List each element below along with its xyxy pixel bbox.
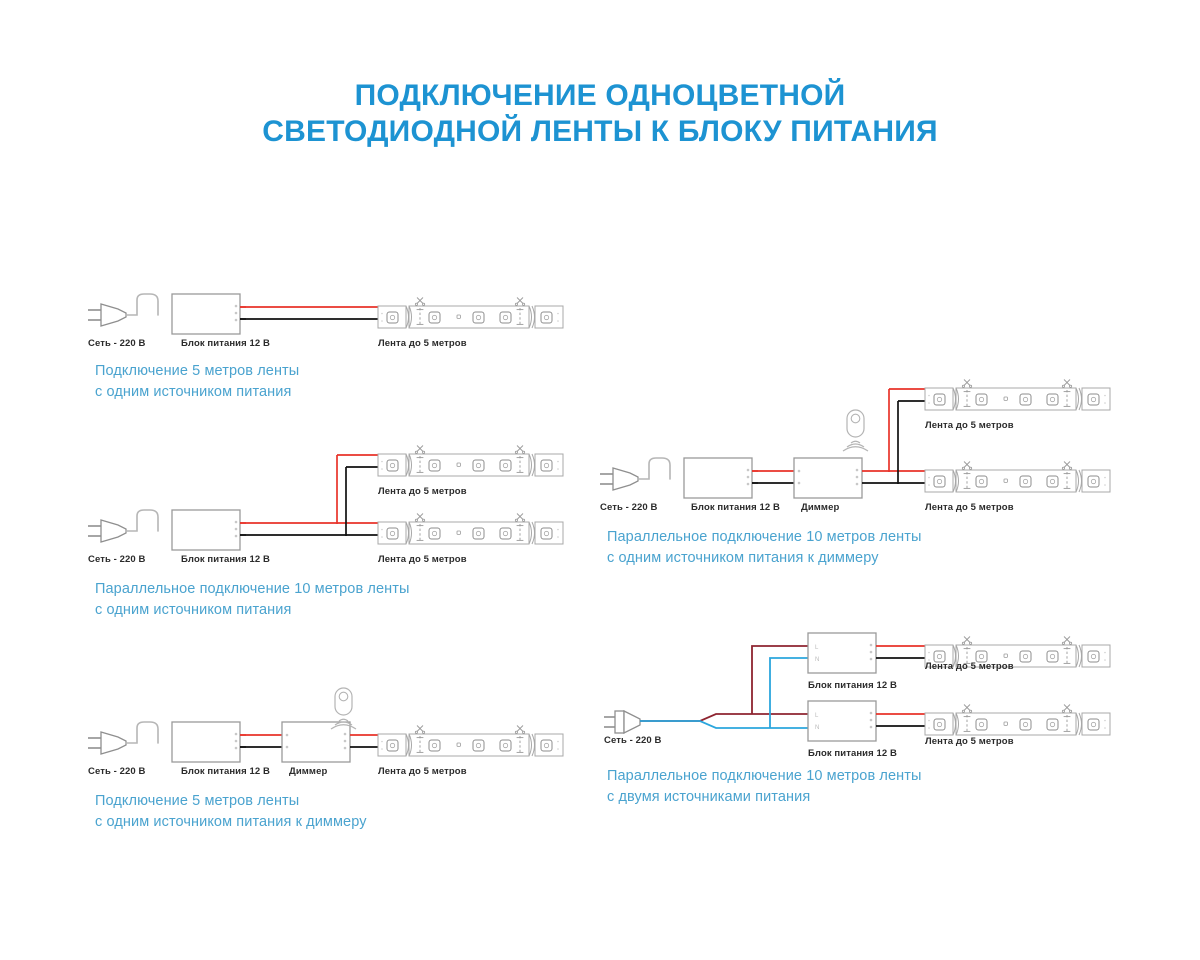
svg-text:N: N [815,725,819,731]
diagram-2-caption: Параллельное подключение 10 метров ленты… [95,579,410,621]
diagram-1-caption-line-2: с одним источником питания [95,382,299,403]
label-dimmer: Диммер [801,502,839,513]
label-mains: Сеть - 220 В [88,554,146,565]
diagram-2-parallel-two-strips [88,446,563,551]
diagram-3-caption-line-2: с одним источником питания к диммеру [95,812,367,833]
label-strip-lower: Лента до 5 метров [378,554,467,565]
led-strip-lower [925,705,1110,736]
label-psu: Блок питания 12 В [181,554,270,565]
diagram-5-caption-line-1: Параллельное подключение 10 метров ленты [607,766,922,787]
led-strip-lower [925,462,1110,493]
label-psu: Блок питания 12 В [181,338,270,349]
diagram-page: ПОДКЛЮЧЕНИЕ ОДНОЦВЕТНОЙ СВЕТОДИОДНОЙ ЛЕН… [0,0,1200,960]
power-supply-box [172,294,240,334]
diagram-4-dimmer-parallel-two-strips [600,380,1110,499]
power-supply-box [172,510,240,550]
diagram-3-caption-line-1: Подключение 5 метров ленты [95,791,367,812]
label-psu: Блок питания 12 В [691,502,780,513]
label-psu: Блок питания 12 В [181,766,270,777]
diagram-4-caption-line-1: Параллельное подключение 10 метров ленты [607,527,922,548]
diagram-3-caption: Подключение 5 метров ленты с одним источ… [95,791,367,833]
led-strip-lower [378,514,563,545]
label-dimmer: Диммер [289,766,327,777]
led-strip-upper [925,380,1110,411]
label-mains: Сеть - 220 В [88,338,146,349]
diagram-2-caption-line-2: с одним источником питания [95,600,410,621]
remote-control-icon [843,410,868,451]
label-psu-lower: Блок питания 12 В [808,748,897,759]
diagram-5-caption-line-2: с двумя источниками питания [607,787,922,808]
power-supply-box-upper [808,633,876,673]
dimmer-box [282,722,350,762]
label-mains: Сеть - 220 В [600,502,658,513]
label-strip: Лента до 5 метров [378,338,467,349]
label-mains: Сеть - 220 В [604,735,662,746]
label-strip-upper: Лента до 5 метров [925,420,1014,431]
diagram-2-caption-line-1: Параллельное подключение 10 метров ленты [95,579,410,600]
label-strip-upper: Лента до 5 метров [378,486,467,497]
power-supply-box-lower [808,701,876,741]
dimmer-box [794,458,862,498]
diagram-5-caption: Параллельное подключение 10 метров ленты… [607,766,922,808]
diagram-1-caption: Подключение 5 метров ленты с одним источ… [95,361,299,403]
power-supply-box [684,458,752,498]
label-mains: Сеть - 220 В [88,766,146,777]
label-strip-upper: Лента до 5 метров [925,661,1014,672]
power-supply-box [172,722,240,762]
diagram-1-single-strip [88,294,563,334]
label-strip-lower: Лента до 5 метров [925,502,1014,513]
led-strip-upper [378,446,563,477]
label-psu-upper: Блок питания 12 В [808,680,897,691]
label-strip-lower: Лента до 5 метров [925,736,1014,747]
label-strip: Лента до 5 метров [378,766,467,777]
diagram-3-dimmer-single-strip [88,688,563,762]
diagram-4-caption-line-2: с одним источником питания к диммеру [607,548,922,569]
led-strip [378,726,563,757]
diagram-1-caption-line-1: Подключение 5 метров ленты [95,361,299,382]
svg-text:N: N [815,657,819,663]
led-strip [378,298,563,329]
diagram-4-caption: Параллельное подключение 10 метров ленты… [607,527,922,569]
